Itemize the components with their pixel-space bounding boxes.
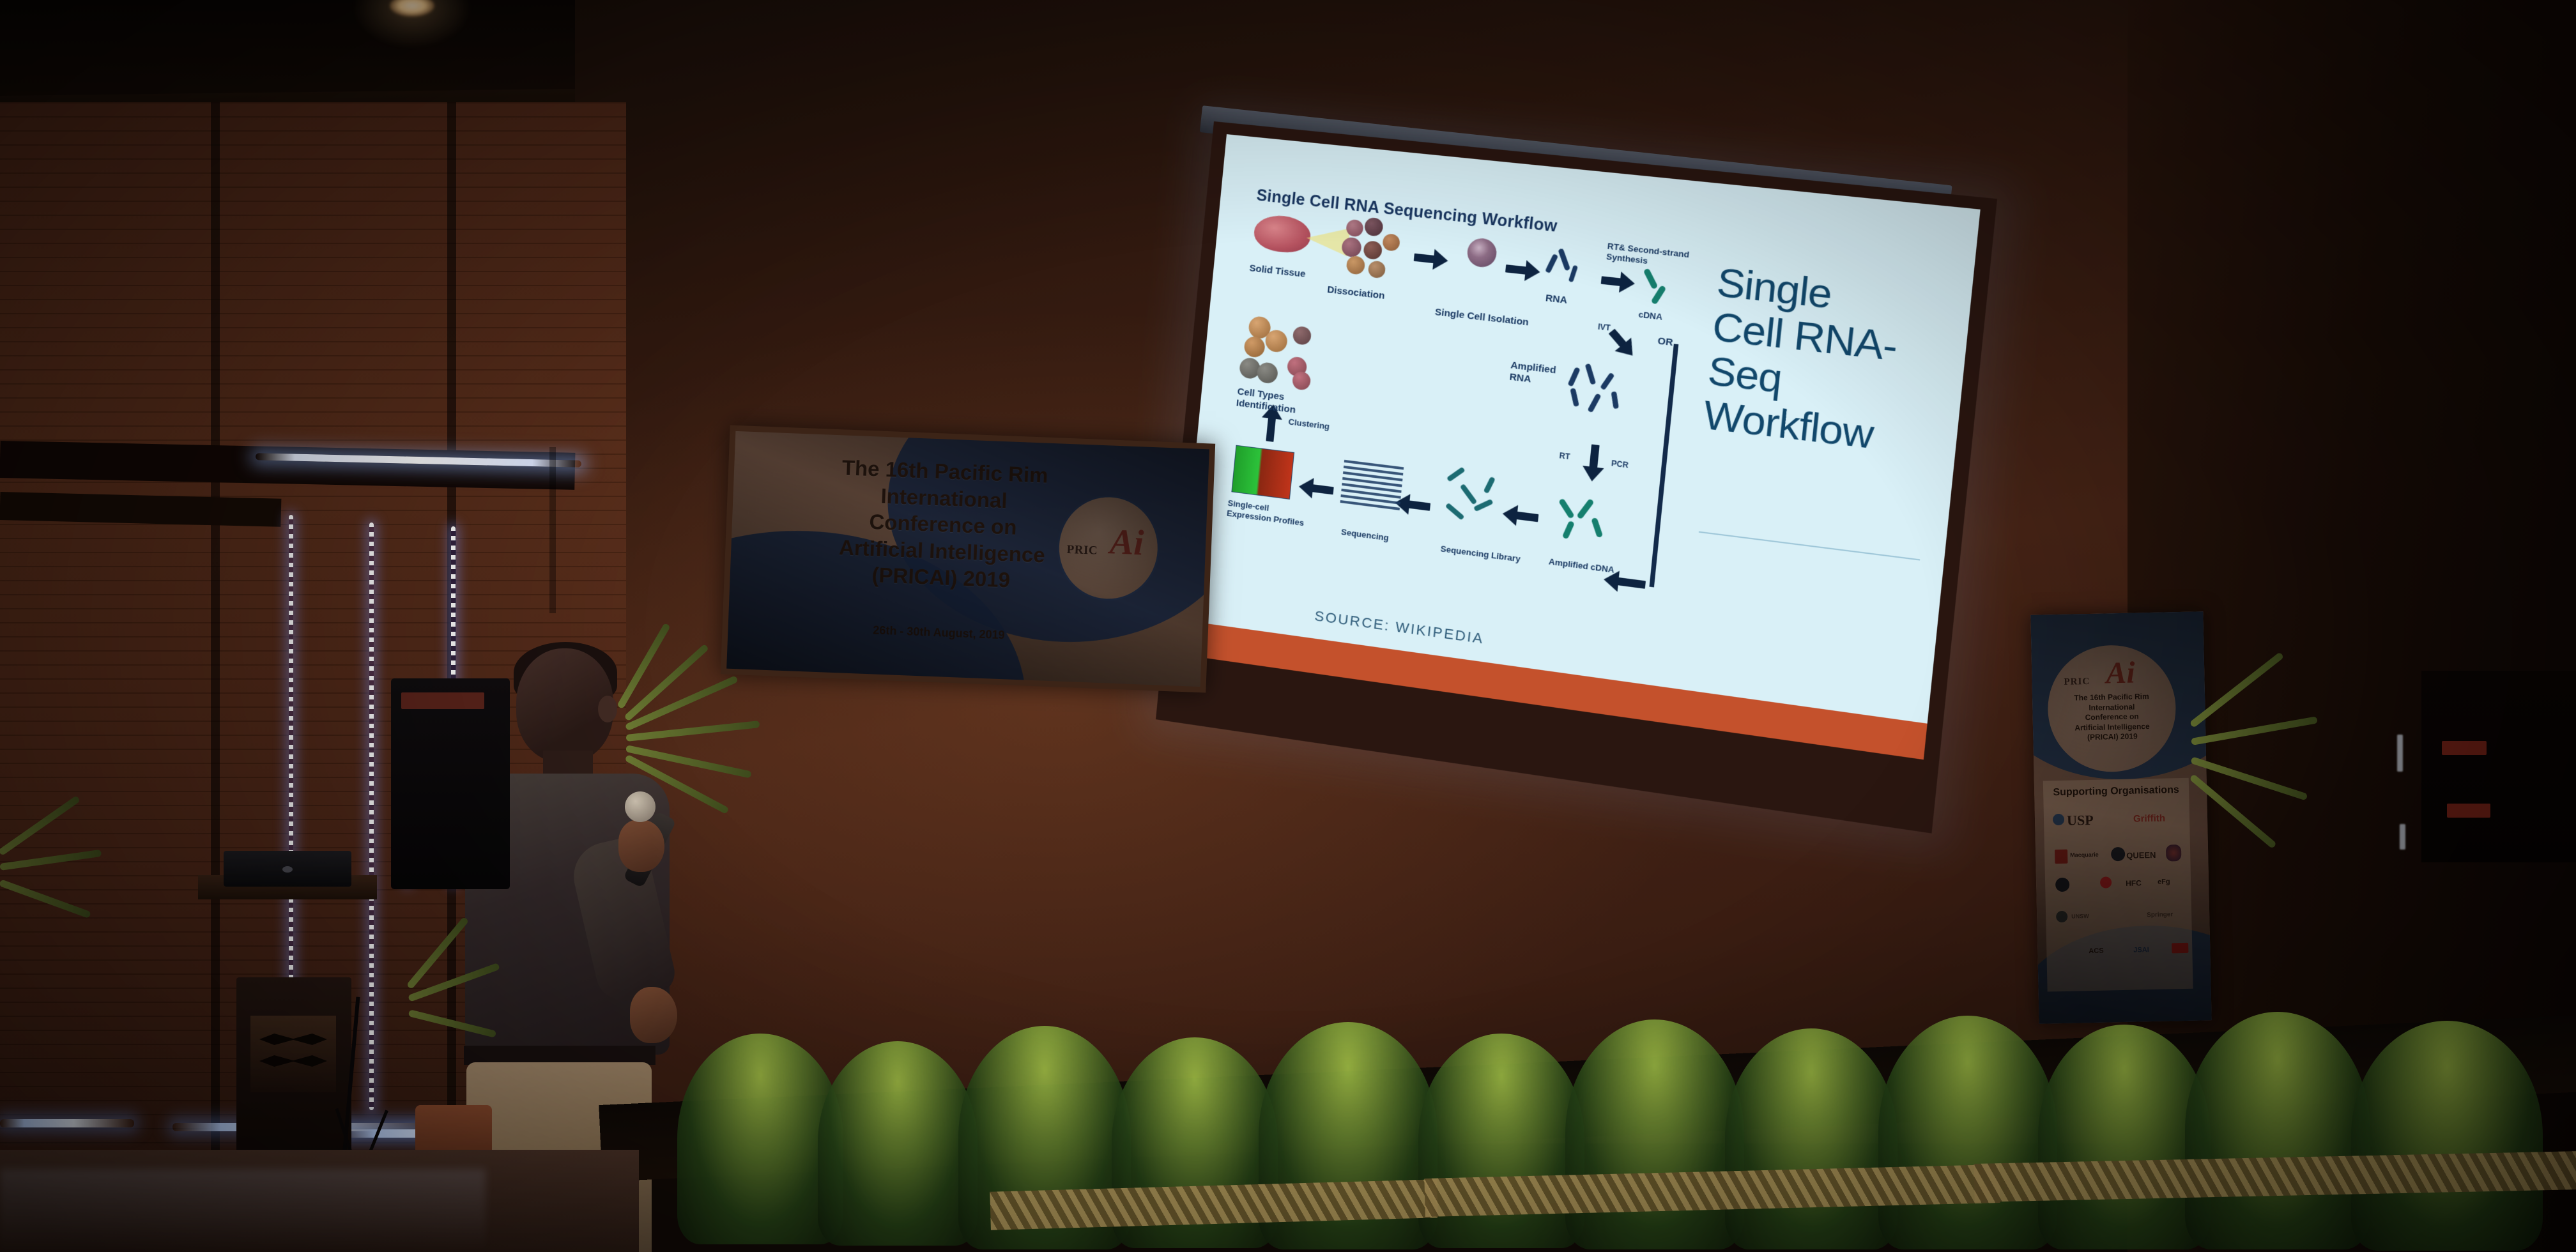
cdna-strand — [1643, 268, 1659, 289]
supporter-logo: Springer — [2147, 911, 2173, 919]
label-rna: RNA — [1545, 293, 1568, 307]
stage-plant — [2185, 1012, 2370, 1249]
wall-banner-title: The 16th Pacific Rim International Confe… — [806, 453, 1080, 596]
label-or: OR — [1657, 335, 1674, 349]
amplified-cdna-strand — [1562, 521, 1575, 540]
roll-up-banner: PRIC Ai The 16th Pacific Rim Internation… — [2030, 611, 2211, 1024]
celltype-dot — [1256, 362, 1278, 385]
solid-tissue-icon — [1253, 213, 1312, 255]
presenter-hand — [618, 820, 664, 872]
celltype-dot — [1292, 326, 1312, 346]
pricai-logo-mark: Ai — [1109, 522, 1144, 564]
amplified-rna-strand — [1587, 393, 1601, 413]
supporter-mark — [2172, 943, 2188, 954]
supporter-logo: ACS — [2089, 947, 2103, 955]
rna-strand — [1545, 254, 1558, 273]
library-strand — [1483, 477, 1496, 494]
equipment-indicator — [2400, 824, 2405, 850]
speaker-badge — [401, 692, 484, 709]
pa-loudspeaker — [391, 678, 510, 889]
label-ivt: IVT — [1597, 322, 1611, 333]
stage-plant — [818, 1041, 977, 1246]
pricai-logo-text: PRIC — [1066, 543, 1098, 558]
amplified-rna-strand — [1585, 363, 1597, 385]
library-strand — [1445, 503, 1465, 521]
supporter-mark — [2053, 814, 2064, 825]
amplified-cdna-strand — [1591, 517, 1603, 538]
flow-vertical-rule — [1650, 344, 1679, 587]
supporter-logo: UNSW — [2071, 913, 2089, 920]
laptop-logo-icon — [282, 866, 293, 873]
label-dissociation: Dissociation — [1326, 284, 1385, 302]
celltype-dot — [1243, 335, 1266, 358]
slide-title: Single Cell RNA- Seq Workflow — [1701, 261, 1948, 464]
supporter-mark — [2100, 876, 2112, 888]
sequencing-readout — [1340, 460, 1404, 512]
label-cell-types-identification: Cell Types Identification — [1236, 386, 1297, 416]
lectern-carving — [250, 1016, 336, 1092]
supporter-logo: Macquarie — [2070, 851, 2099, 859]
label-sequencing: Sequencing — [1340, 527, 1389, 544]
microphone-icon — [625, 791, 655, 822]
wall-banner: The 16th Pacific Rim International Confe… — [721, 425, 1215, 693]
pricai-logo-text: PRIC — [2064, 676, 2090, 688]
rna-strand — [1558, 248, 1570, 271]
amplified-cdna-strand — [1576, 498, 1594, 519]
library-strand — [1460, 484, 1477, 505]
supporter-logo: eFg — [2158, 878, 2170, 885]
projection-screen: Single Cell RNA- Seq Workflow Single Cel… — [1156, 121, 1997, 834]
presenter-hand — [630, 987, 677, 1043]
supporter-logo: HFC — [2126, 878, 2142, 888]
cell-dot — [1345, 256, 1365, 275]
label-solid-tissue: Solid Tissue — [1249, 263, 1307, 280]
stage-plant — [1565, 1019, 1744, 1249]
pricai-logo-mark: Ai — [2106, 655, 2136, 691]
floor-reflection — [0, 1169, 486, 1252]
label-clustering: Clustering — [1288, 416, 1330, 432]
celltype-dot — [1264, 329, 1288, 353]
stage-plant — [1878, 1016, 2057, 1249]
supporter-logo: QUEEN — [2126, 850, 2156, 860]
presentation-slide: Single Cell RNA- Seq Workflow Single Cel… — [1176, 134, 1981, 760]
standee-supporting-heading: Supporting Organisations — [2043, 784, 2189, 799]
cell-dot — [1368, 260, 1386, 279]
supporter-mark — [2056, 911, 2067, 922]
supporter-mark — [2055, 878, 2069, 892]
cell-dot — [1363, 240, 1383, 260]
supporter-logo: USP — [2067, 812, 2094, 829]
presenter-laptop — [224, 851, 351, 887]
label-rt: RT — [1559, 451, 1570, 462]
standee-supporters-panel: Supporting Organisations USP Griffith Ma… — [2043, 778, 2193, 992]
label-sequencing-library: Sequencing Library — [1440, 544, 1521, 564]
floor-led-strip — [0, 1119, 134, 1127]
supporter-mark — [2166, 844, 2182, 861]
celltype-dot — [1292, 370, 1312, 390]
slide-title-rule — [1699, 531, 1920, 561]
label-amplified-rna: Amplified RNA — [1509, 360, 1557, 388]
label-cdna: cDNA — [1638, 309, 1663, 322]
led-strip-vertical — [369, 523, 374, 1110]
presenter-ear — [598, 696, 617, 722]
label-single-cell-isolation: Single Cell Isolation — [1434, 307, 1529, 329]
av-equipment-case — [2421, 671, 2576, 862]
supporter-logo: JSAI — [2133, 946, 2149, 954]
equipment-label — [2447, 804, 2490, 818]
library-strand — [1446, 466, 1466, 482]
ceiling-downlight — [390, 0, 434, 17]
supporter-mark — [2111, 847, 2125, 861]
stage-plant — [2351, 1021, 2543, 1251]
supporter-mark — [2055, 850, 2067, 864]
amplified-rna-strand — [1567, 367, 1580, 386]
amplified-rna-strand — [1611, 392, 1619, 409]
equipment-label — [2442, 741, 2487, 755]
cell-dot — [1382, 233, 1400, 252]
single-cell-icon — [1466, 237, 1498, 269]
photo-scene: Single Cell RNA- Seq Workflow Single Cel… — [0, 0, 2576, 1252]
slide-accent-band — [1176, 620, 1928, 760]
label-rt-second-strand: RT& Second-strand Synthesis — [1606, 241, 1689, 270]
presenter-leg-seam — [549, 447, 556, 613]
amplified-rna-strand — [1570, 388, 1579, 407]
supporter-logo: Griffith — [2133, 813, 2165, 825]
amplified-cdna-strand — [1558, 498, 1575, 519]
label-single-cell-expression: Single-cell Expression Profiles — [1226, 498, 1305, 528]
amplified-rna-strand — [1600, 372, 1614, 390]
label-pcr: PCR — [1611, 459, 1629, 470]
stage-plant — [1725, 1028, 1897, 1249]
cell-dot — [1364, 217, 1384, 237]
expression-heatmap — [1231, 445, 1294, 500]
equipment-indicator — [2397, 735, 2403, 772]
standee-title: The 16th Pacific Rim International Confe… — [2058, 692, 2166, 744]
